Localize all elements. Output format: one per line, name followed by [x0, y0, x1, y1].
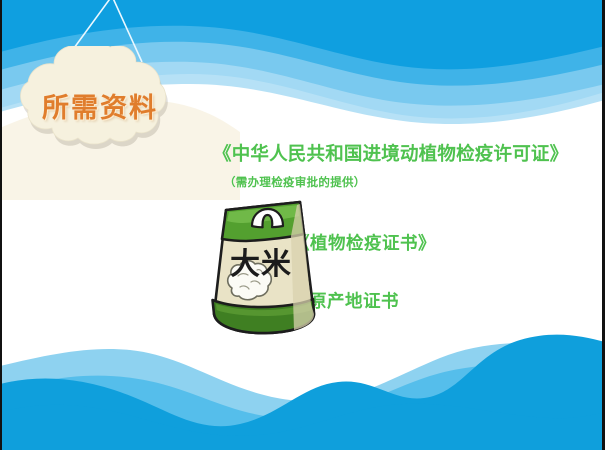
cloud-label-text: 所需资料 — [8, 86, 192, 125]
rice-bag-illustration: 大米 — [196, 196, 326, 338]
document-permit-note: （需办理检疫审批的提供） — [0, 174, 605, 190]
slide-canvas: 所需资料 《中华人民共和国进境动植物检疫许可证》 （需办理检疫审批的提供） 《植… — [0, 0, 605, 450]
rice-bag-label: 大米 — [213, 239, 309, 283]
document-permit-title: 《中华人民共和国进境动植物检疫许可证》 — [0, 140, 605, 166]
